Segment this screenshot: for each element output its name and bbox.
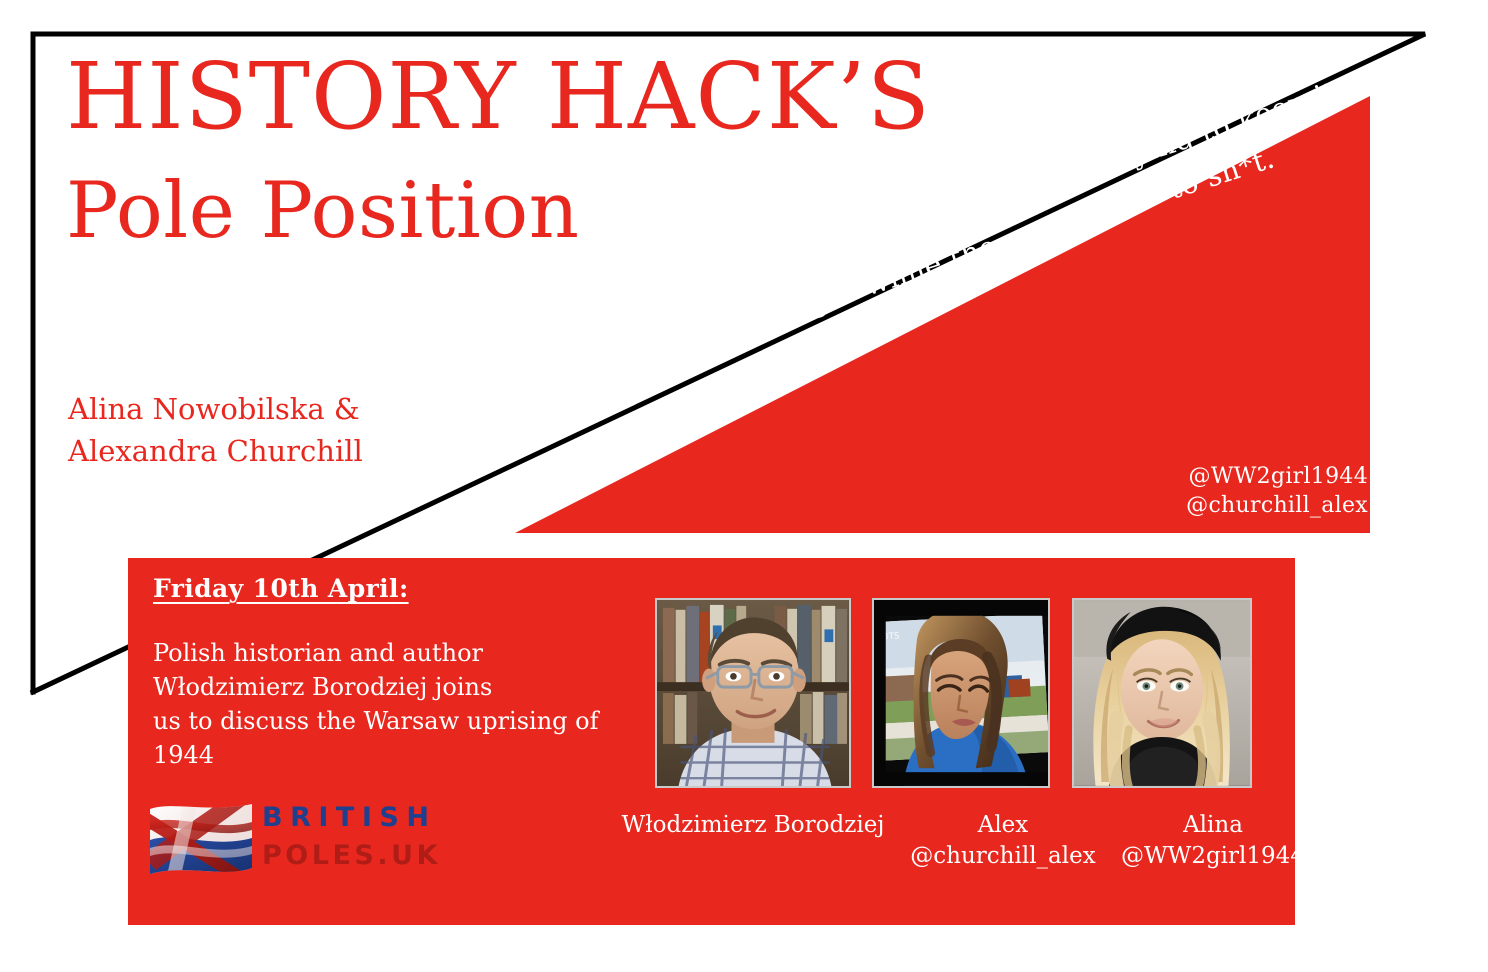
caption-handle-3[interactable]: @WW2girl1944 bbox=[1103, 841, 1323, 872]
episode-description: Polish historian and author Włodzimierz … bbox=[153, 636, 598, 772]
episode-date-label: Friday 10th April bbox=[153, 574, 399, 603]
host-name-1: Alina Nowobilska & bbox=[68, 388, 363, 430]
photo-man-glasses-bookshelf bbox=[655, 598, 851, 788]
episode-description-line-1: Polish historian and author bbox=[153, 636, 598, 670]
caption-name-3: Alina bbox=[1103, 810, 1323, 841]
photo-blonde-woman-hat bbox=[1072, 598, 1252, 788]
guest-photo-strip: BTS bbox=[655, 598, 1275, 790]
caption-name-2: Alex bbox=[898, 810, 1108, 841]
caption-handle-2[interactable]: @churchill_alex bbox=[898, 841, 1108, 872]
logo-wordmark: BRITISH POLES.UK bbox=[262, 800, 462, 875]
photo-woman-looking-down: BTS bbox=[872, 598, 1050, 788]
union-jack-polish-flag-icon bbox=[150, 804, 252, 876]
caption-alex: Alex @churchill_alex bbox=[898, 810, 1108, 872]
handle-ww2girl1944[interactable]: @WW2girl1944 bbox=[1186, 462, 1368, 491]
episode-description-line-3: us to discuss the Warsaw uprising of bbox=[153, 704, 598, 738]
banner-handles: @WW2girl1944 @churchill_alex bbox=[1186, 462, 1368, 521]
britishpoles-logo[interactable]: BRITISH POLES.UK bbox=[150, 800, 460, 882]
episode-panel: Friday 10th April: Polish historian and … bbox=[128, 558, 1295, 925]
logo-word-british: BRITISH bbox=[262, 800, 462, 836]
host-names: Alina Nowobilska & Alexandra Churchill bbox=[68, 388, 363, 473]
handle-churchill-alex[interactable]: @churchill_alex bbox=[1186, 491, 1368, 520]
caption-name-1: Włodzimierz Borodziej bbox=[598, 810, 908, 841]
episode-description-line-4: 1944 bbox=[153, 738, 598, 772]
caption-alina: Alina @WW2girl1944 bbox=[1103, 810, 1323, 872]
episode-date: Friday 10th April: bbox=[153, 574, 409, 603]
title-line-1: HISTORY HACK’S bbox=[66, 48, 931, 146]
guest-captions: Włodzimierz Borodziej Alex @churchill_al… bbox=[598, 810, 1288, 890]
host-name-2: Alexandra Churchill bbox=[68, 430, 363, 472]
logo-word-polesuk: POLES.UK bbox=[262, 838, 462, 874]
poster-canvas: HISTORY HACK’S Pole Position Alina Nowob… bbox=[0, 0, 1488, 972]
caption-borodziej: Włodzimierz Borodziej bbox=[598, 810, 908, 841]
episode-date-colon: : bbox=[399, 574, 409, 603]
episode-description-line-2: Włodzimierz Borodziej joins bbox=[153, 670, 598, 704]
